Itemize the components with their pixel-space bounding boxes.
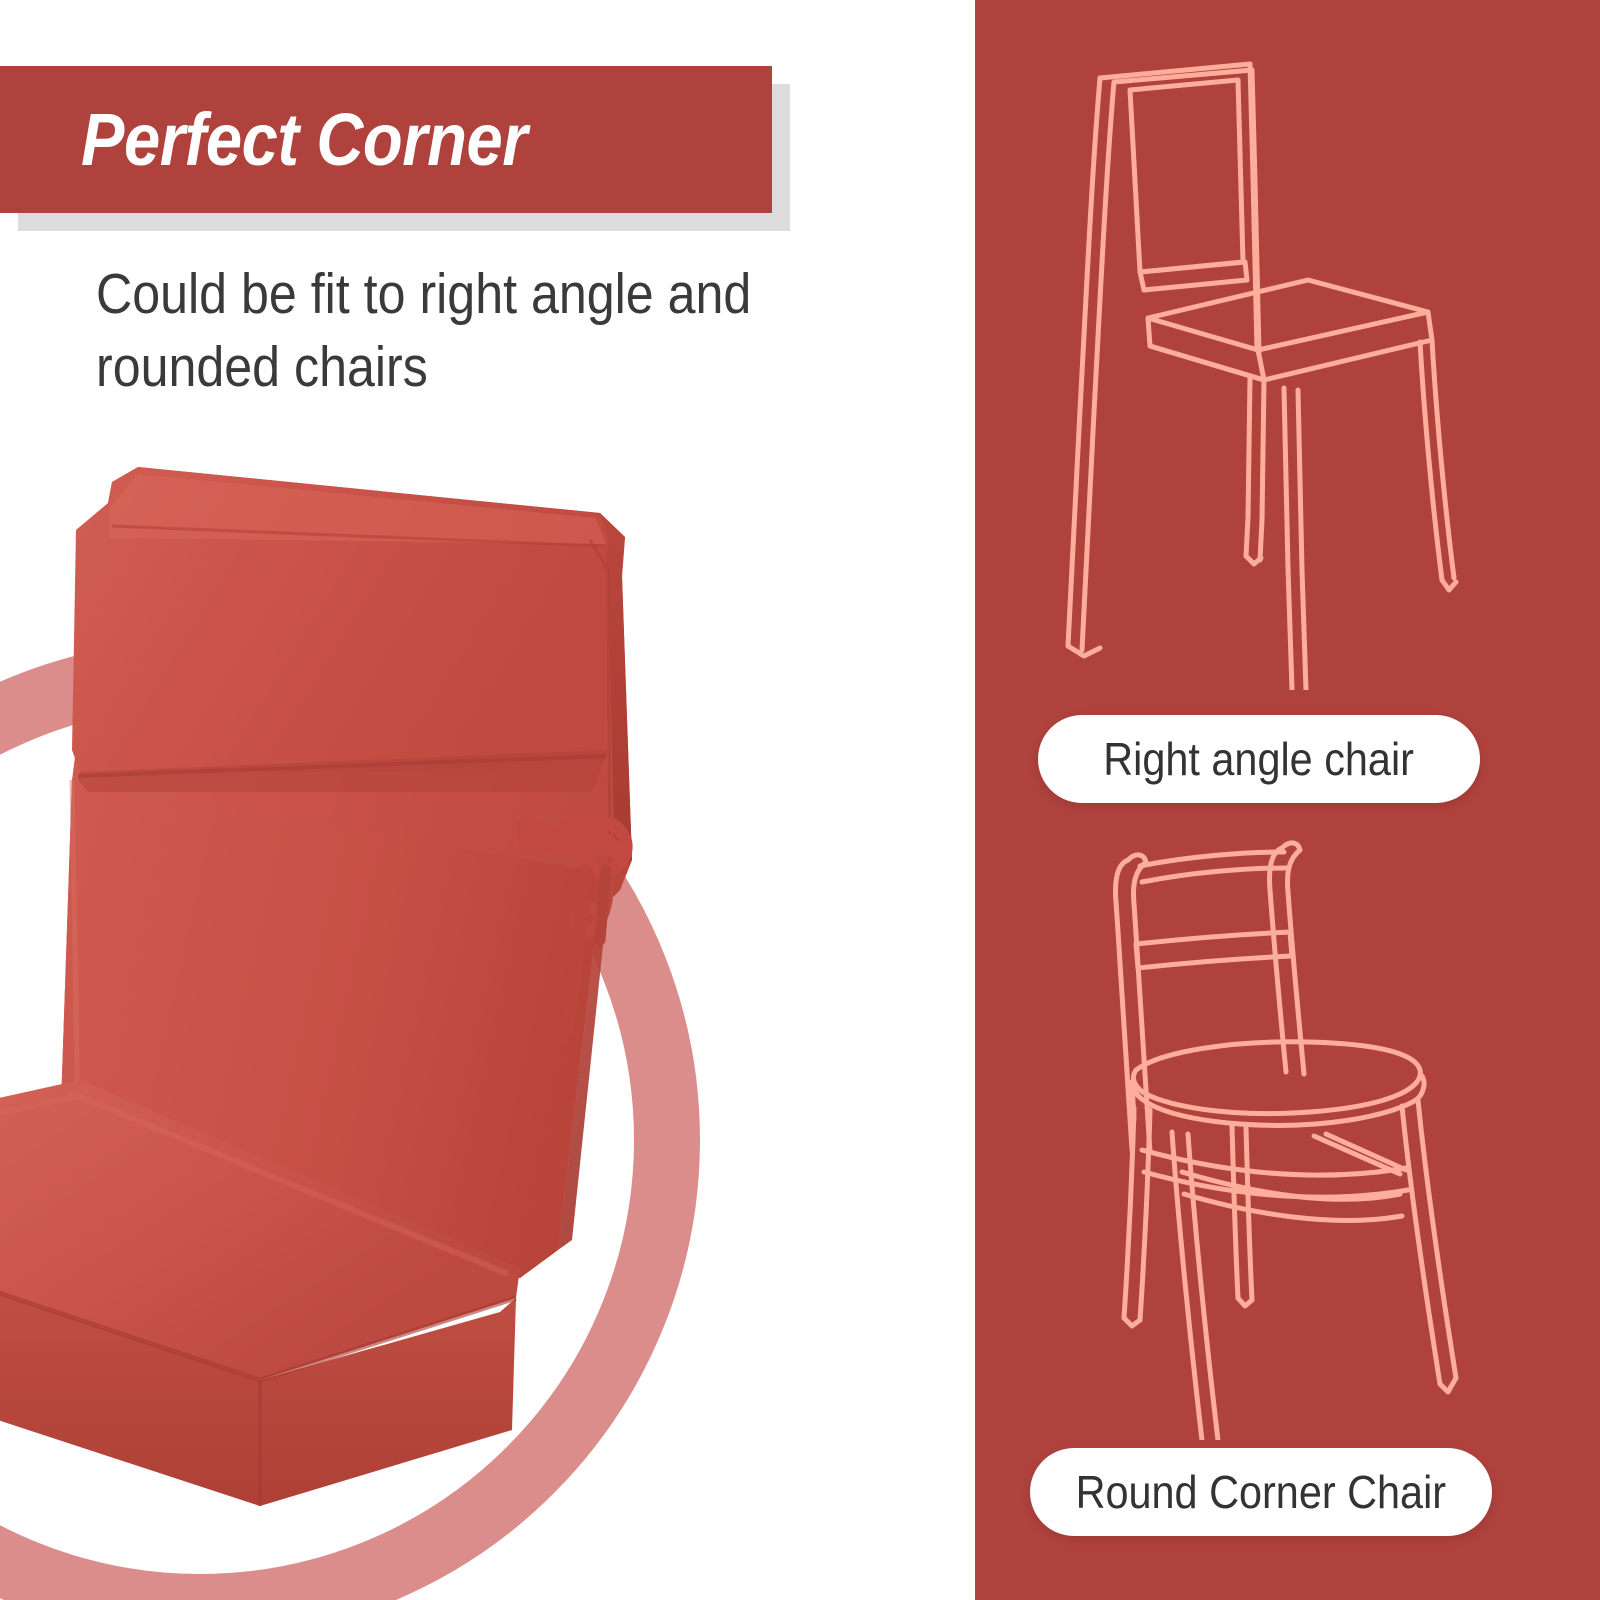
title-banner: Perfect Corner (0, 66, 772, 213)
label-round-corner-chair-text: Round Corner Chair (1076, 1465, 1446, 1519)
page-title: Perfect Corner (0, 103, 527, 177)
label-right-angle-chair-text: Right angle chair (1104, 732, 1415, 786)
label-round-corner-chair: Round Corner Chair (1030, 1448, 1492, 1536)
subtitle-text: Could be fit to right angle and rounded … (96, 258, 853, 404)
round-corner-chair-icon (1070, 820, 1500, 1440)
right-angle-chair-icon (1040, 50, 1470, 690)
label-right-angle-chair: Right angle chair (1038, 715, 1480, 803)
product-image-chair-cushion (0, 420, 720, 1560)
marketing-infographic: Perfect Corner Could be fit to right ang… (0, 0, 1600, 1600)
